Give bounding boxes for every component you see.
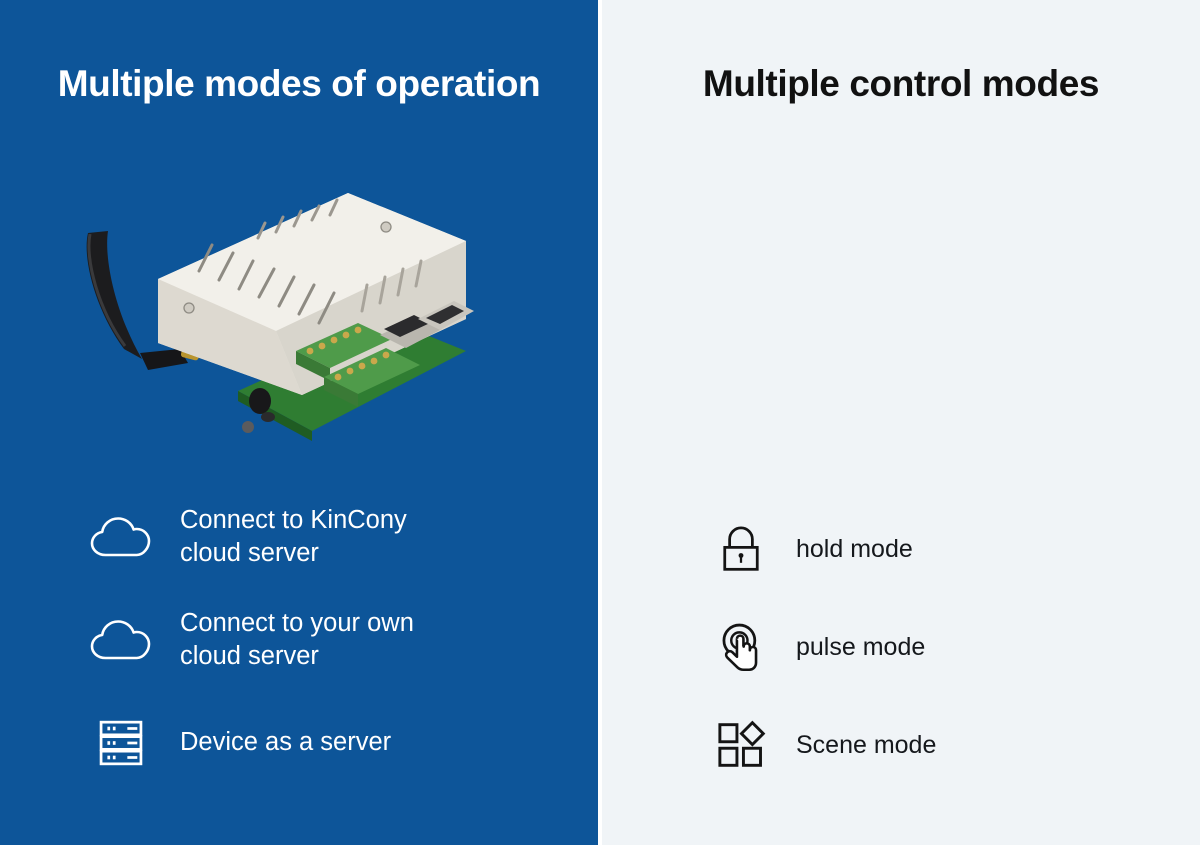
left-panel-title: Multiple modes of operation <box>0 63 598 105</box>
right-panel-title: Multiple control modes <box>602 63 1200 105</box>
padlock-icon <box>712 520 770 578</box>
feature-item-device-server: Device as a server <box>88 691 598 794</box>
feature-item-kincony-cloud: Connect to KinCony cloud server <box>88 485 598 588</box>
feature-label: Connect to KinCony cloud server <box>180 504 407 570</box>
feature-item-pulse-mode: pulse mode <box>712 598 1200 696</box>
comparison-board: Multiple modes of operation <box>0 0 1200 845</box>
feature-item-scene-mode: Scene mode <box>712 696 1200 794</box>
scene-grid-icon <box>712 716 770 774</box>
feature-label: Connect to your own cloud server <box>180 607 414 673</box>
feature-item-own-cloud: Connect to your own cloud server <box>88 588 598 691</box>
feature-label: Scene mode <box>796 730 936 760</box>
feature-label: Device as a server <box>180 726 391 759</box>
cloud-icon <box>88 504 154 570</box>
left-feature-list: Connect to KinCony cloud server Connect … <box>0 485 598 794</box>
tap-gesture-icon <box>712 618 770 676</box>
product-photo <box>62 183 482 451</box>
left-panel: Multiple modes of operation <box>0 0 598 845</box>
feature-item-hold-mode: hold mode <box>712 500 1200 598</box>
feature-label: pulse mode <box>796 632 925 662</box>
feature-label: hold mode <box>796 534 913 564</box>
right-feature-list: hold mode pulse mode <box>602 500 1200 794</box>
server-rack-icon <box>88 710 154 776</box>
right-panel: Multiple control modes Back Controller <box>602 0 1200 845</box>
cloud-icon <box>88 607 154 673</box>
